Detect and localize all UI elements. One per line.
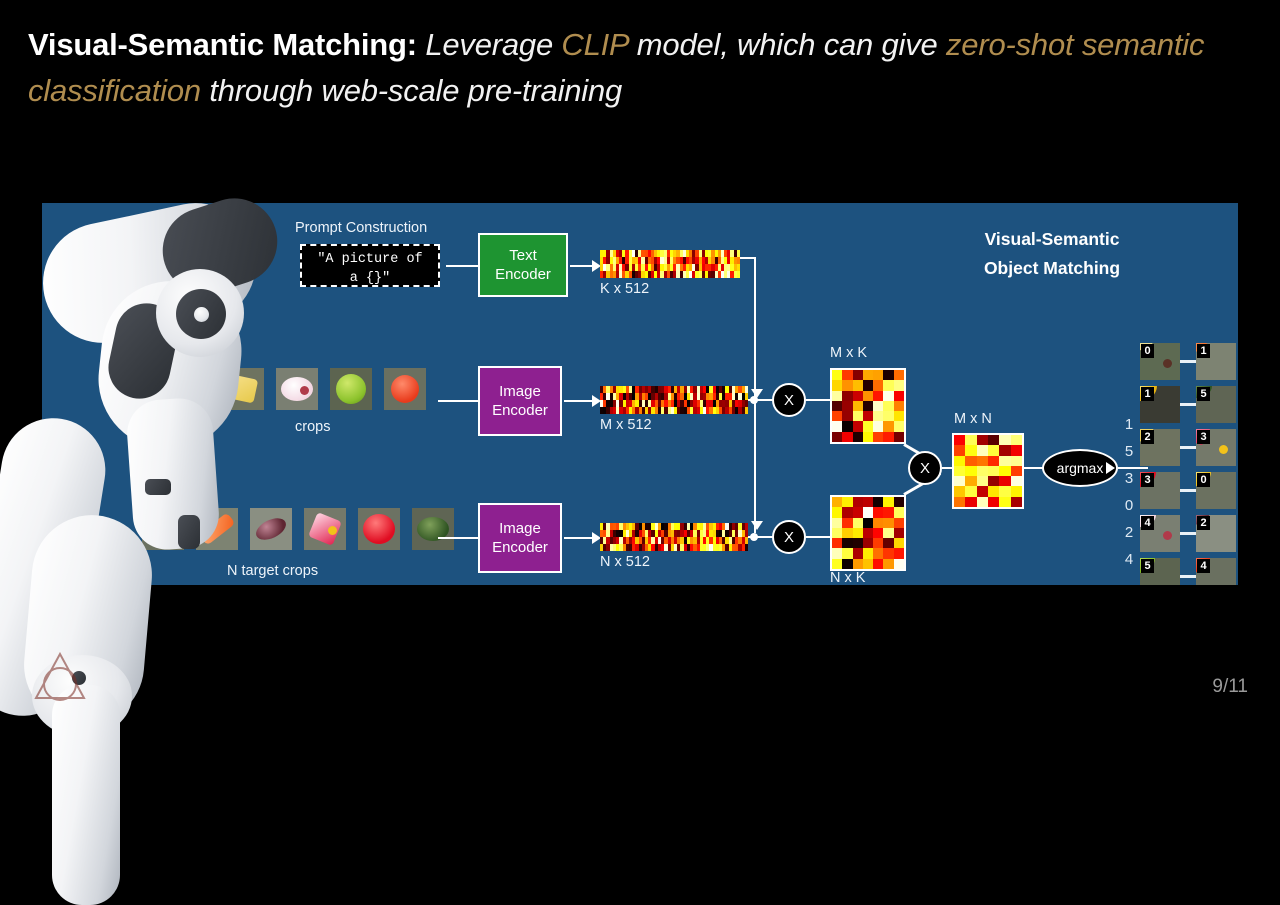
match-cell-right: 1: [1196, 343, 1236, 380]
text-encoder-label-line2: Encoder: [495, 266, 551, 283]
multiply-node-nk: X: [772, 520, 806, 554]
page-indicator: 9/11: [1212, 676, 1248, 698]
match-link: [1180, 403, 1196, 406]
match-index-badge: 4: [1197, 559, 1210, 573]
title-segment-clip: CLIP: [561, 27, 628, 62]
prompt-template-box: "A picture of a {}": [300, 244, 440, 287]
n-crops-row: [142, 508, 454, 550]
arrowhead-k-to-bottom-x: [751, 521, 763, 530]
assignment-number: 4: [1120, 546, 1138, 573]
match-index-badge: 3: [1197, 430, 1210, 444]
match-cell-left: 5: [1140, 558, 1180, 585]
prompt-template-line2: a {}": [350, 271, 391, 286]
image-encoder-box-n[interactable]: ImageEncoder: [478, 503, 562, 573]
k-embedding-label: K x 512: [600, 281, 649, 297]
text-encoder-label-line1: Text: [509, 247, 537, 264]
match-index-badge: 1: [1141, 387, 1154, 401]
crop-thumbnail: [304, 508, 346, 550]
junction-dot-n: [750, 533, 758, 541]
m-crops-label: crops: [295, 419, 330, 435]
match-cell-left: 3: [1140, 472, 1180, 509]
n-crops-label: N target crops: [227, 563, 318, 579]
argmax-label: argmax: [1057, 460, 1104, 476]
multiply-symbol-nk: X: [784, 529, 794, 546]
match-cell-right: 3: [1196, 429, 1236, 466]
logo-mark: [30, 650, 88, 702]
slide-title: Visual-Semantic Matching: Leverage CLIP …: [28, 22, 1228, 114]
assignment-number: 3: [1120, 465, 1138, 492]
match-index-badge: 2: [1197, 516, 1210, 530]
nk-matrix: [830, 495, 906, 571]
title-segment-3: through web-scale pre-training: [201, 73, 622, 108]
match-cell-left: 2: [1140, 429, 1180, 466]
match-cell-left: 4: [1140, 515, 1180, 552]
prompt-construction-label: Prompt Construction: [295, 220, 427, 236]
multiply-symbol-mn: X: [920, 460, 930, 477]
prompt-template-line1: "A picture of: [317, 252, 422, 267]
match-index-badge: 5: [1141, 559, 1154, 573]
image-encoder-box-m[interactable]: ImageEncoder: [478, 366, 562, 436]
crop-thumbnail: [114, 368, 156, 410]
image-encoder-n-line1: Image: [499, 520, 541, 537]
figure-panel: Visual-Semantic Object Matching box of -…: [42, 203, 1238, 585]
match-cell-right: 4: [1196, 558, 1236, 585]
assignment-number: 2: [1120, 519, 1138, 546]
match-index-badge: 2: [1141, 430, 1154, 444]
match-link: [1180, 489, 1196, 492]
mn-matrix-label: M x N: [954, 411, 992, 427]
object-list: box of - appl - co: [160, 249, 219, 291]
mk-matrix-label: M x K: [830, 345, 867, 361]
image-encoder-n-line2: Encoder: [492, 539, 548, 556]
match-link: [1180, 360, 1196, 363]
match-cell-right: 5: [1196, 386, 1236, 423]
crop-thumbnail: [358, 508, 400, 550]
match-cell-right: 0: [1196, 472, 1236, 509]
match-index-badge: 3: [1141, 473, 1154, 487]
crop-thumbnail: [142, 508, 184, 550]
crop-thumbnail: [168, 368, 210, 410]
crop-thumbnail: [330, 368, 372, 410]
match-index-badge: 5: [1197, 387, 1210, 401]
image-encoder-m-line2: Encoder: [492, 402, 548, 419]
multiply-symbol-mk: X: [784, 392, 794, 409]
m-crops-row: [114, 368, 426, 410]
assignment-number: 1: [1120, 411, 1138, 438]
match-index-badge: 1: [1197, 344, 1210, 358]
title-segment-1: Leverage: [417, 27, 562, 62]
n-embedding-label: N x 512: [600, 554, 650, 570]
match-index-badge: 4: [1141, 516, 1154, 530]
mn-matrix: [952, 433, 1024, 509]
figure-heading-line2: Object Matching: [922, 254, 1182, 283]
crop-thumbnail: [196, 508, 238, 550]
crop-thumbnail: [276, 368, 318, 410]
figure-heading-line1: Visual-Semantic: [922, 225, 1182, 254]
junction-dot-m: [750, 396, 758, 404]
image-encoder-m-line1: Image: [499, 383, 541, 400]
match-link: [1180, 446, 1196, 449]
figure-heading: Visual-Semantic Object Matching: [922, 225, 1182, 283]
crop-thumbnail: [384, 368, 426, 410]
assignment-number: 0: [1120, 492, 1138, 519]
crop-thumbnail: [412, 508, 454, 550]
match-cell-right: 2: [1196, 515, 1236, 552]
match-link: [1180, 575, 1196, 578]
match-cell-left: 1: [1140, 386, 1180, 423]
slide-canvas: Visual-Semantic Matching: Leverage CLIP …: [0, 0, 1280, 720]
text-encoder-box[interactable]: TextEncoder: [478, 233, 568, 297]
m-embedding-label: M x 512: [600, 417, 652, 433]
nk-matrix-label: N x K: [830, 570, 865, 585]
multiply-node-mk: X: [772, 383, 806, 417]
match-index-badge: 0: [1197, 473, 1210, 487]
multiply-node-mn: X: [908, 451, 942, 485]
crop-thumbnail: [222, 368, 264, 410]
assignment-number-column: 153024: [1120, 411, 1138, 573]
n-embedding-strip: [600, 523, 748, 551]
arrowhead-output: [1106, 462, 1115, 474]
k-embedding-strip: [600, 250, 740, 278]
match-cell-left: 0: [1140, 343, 1180, 380]
m-embedding-strip: [600, 386, 748, 414]
crop-thumbnail: [250, 508, 292, 550]
match-link: [1180, 532, 1196, 535]
mk-matrix: [830, 368, 906, 444]
title-segment-2: model, which can give: [628, 27, 946, 62]
title-segment-bold: Visual-Semantic Matching:: [28, 27, 417, 62]
output-match-grid: 011523304254: [1140, 343, 1236, 585]
assignment-number: 5: [1120, 438, 1138, 465]
match-index-badge: 0: [1141, 344, 1154, 358]
